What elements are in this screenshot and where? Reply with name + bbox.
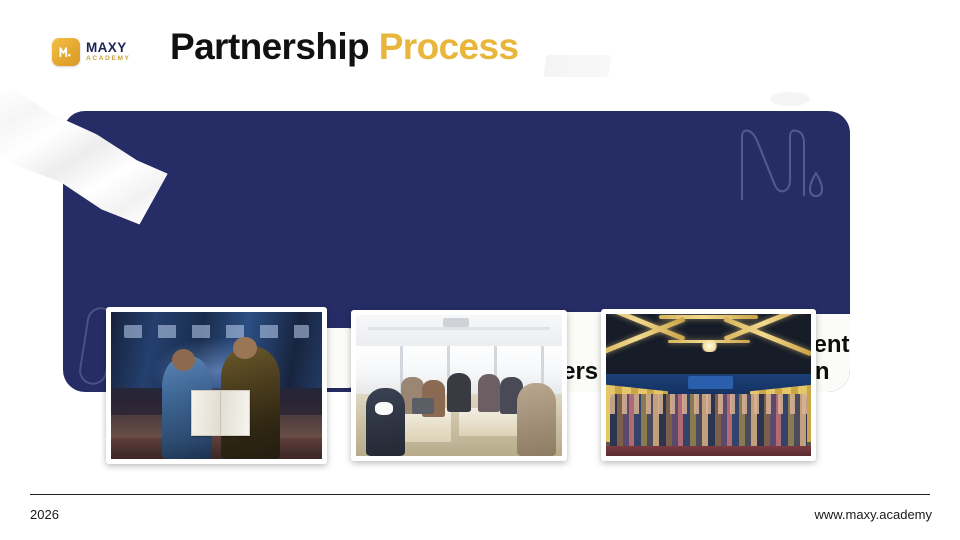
photo-image: [111, 312, 322, 459]
page-title: Partnership Process: [170, 26, 519, 68]
background-watermark-icon: [770, 92, 810, 106]
footer-url[interactable]: www.maxy.academy: [814, 507, 932, 522]
page-title-primary: Partnership: [170, 26, 369, 67]
brand-logo[interactable]: MAXY ACADEMY: [52, 38, 131, 66]
photo-mou-signing[interactable]: [106, 307, 327, 464]
brand-subtitle: ACADEMY: [86, 56, 131, 63]
photo-event-activation[interactable]: [601, 309, 816, 461]
photo-image: [606, 314, 811, 456]
maxy-m-outline-watermark-icon: [728, 121, 828, 211]
photo-fgd-classroom[interactable]: [351, 310, 567, 461]
photo-image: [356, 315, 562, 456]
background-watermark-icon: [543, 55, 611, 77]
footer-year: 2026: [30, 507, 59, 522]
brand-name: MAXY: [86, 41, 131, 55]
footer-divider: [30, 494, 930, 495]
page-title-accent: Process: [379, 26, 519, 67]
slide-canvas: MAXY ACADEMY Partnership Process MOU: [0, 0, 960, 540]
maxy-m-mark-icon: [52, 38, 80, 66]
